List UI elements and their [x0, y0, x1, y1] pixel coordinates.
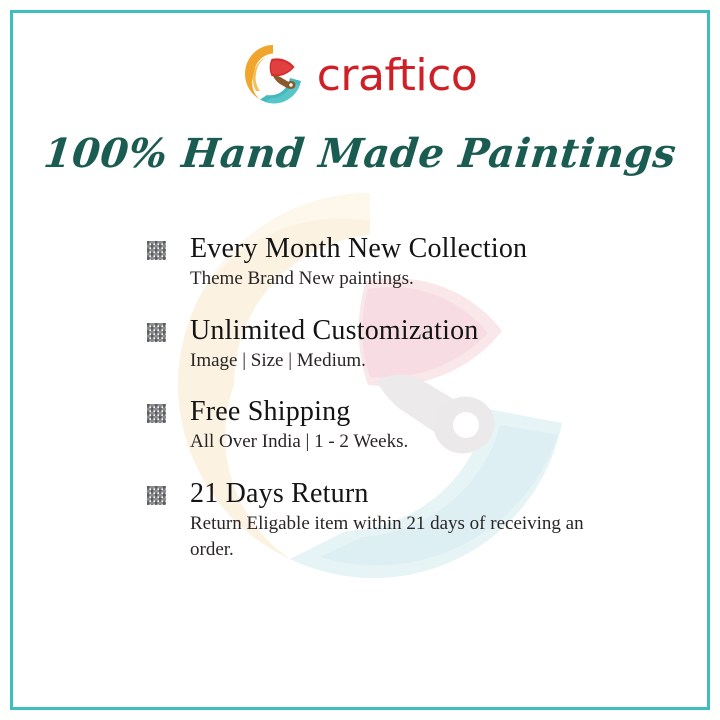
- list-item: Unlimited Customization Image | Size | M…: [146, 314, 616, 374]
- woven-grid-bullet-icon: [146, 485, 167, 506]
- feature-subtitle: Theme Brand New paintings.: [190, 266, 590, 292]
- feature-title: Every Month New Collection: [190, 232, 616, 265]
- feature-list: Every Month New Collection Theme Brand N…: [146, 232, 616, 562]
- feature-subtitle: All Over India | 1 - 2 Weeks.: [190, 429, 590, 455]
- woven-grid-bullet-icon: [146, 240, 167, 261]
- page-title: 100% Hand Made Paintings: [0, 130, 720, 177]
- brand-wordmark: craftico: [317, 54, 478, 98]
- feature-title: Unlimited Customization: [190, 314, 616, 347]
- list-item: Every Month New Collection Theme Brand N…: [146, 232, 616, 292]
- brand-logo-lockup[interactable]: craftico: [0, 38, 720, 110]
- feature-title: Free Shipping: [190, 395, 616, 428]
- craftico-circle-brush-logo-icon: [243, 43, 303, 105]
- woven-grid-bullet-icon: [146, 322, 167, 343]
- feature-subtitle: Return Eligable item within 21 days of r…: [190, 511, 590, 562]
- list-item: Free Shipping All Over India | 1 - 2 Wee…: [146, 395, 616, 455]
- woven-grid-bullet-icon: [146, 403, 167, 424]
- feature-title: 21 Days Return: [190, 477, 616, 510]
- feature-subtitle: Image | Size | Medium.: [190, 348, 590, 374]
- info-card: craftico 100% Hand Made Paintings: [0, 0, 720, 720]
- list-item: 21 Days Return Return Eligable item with…: [146, 477, 616, 562]
